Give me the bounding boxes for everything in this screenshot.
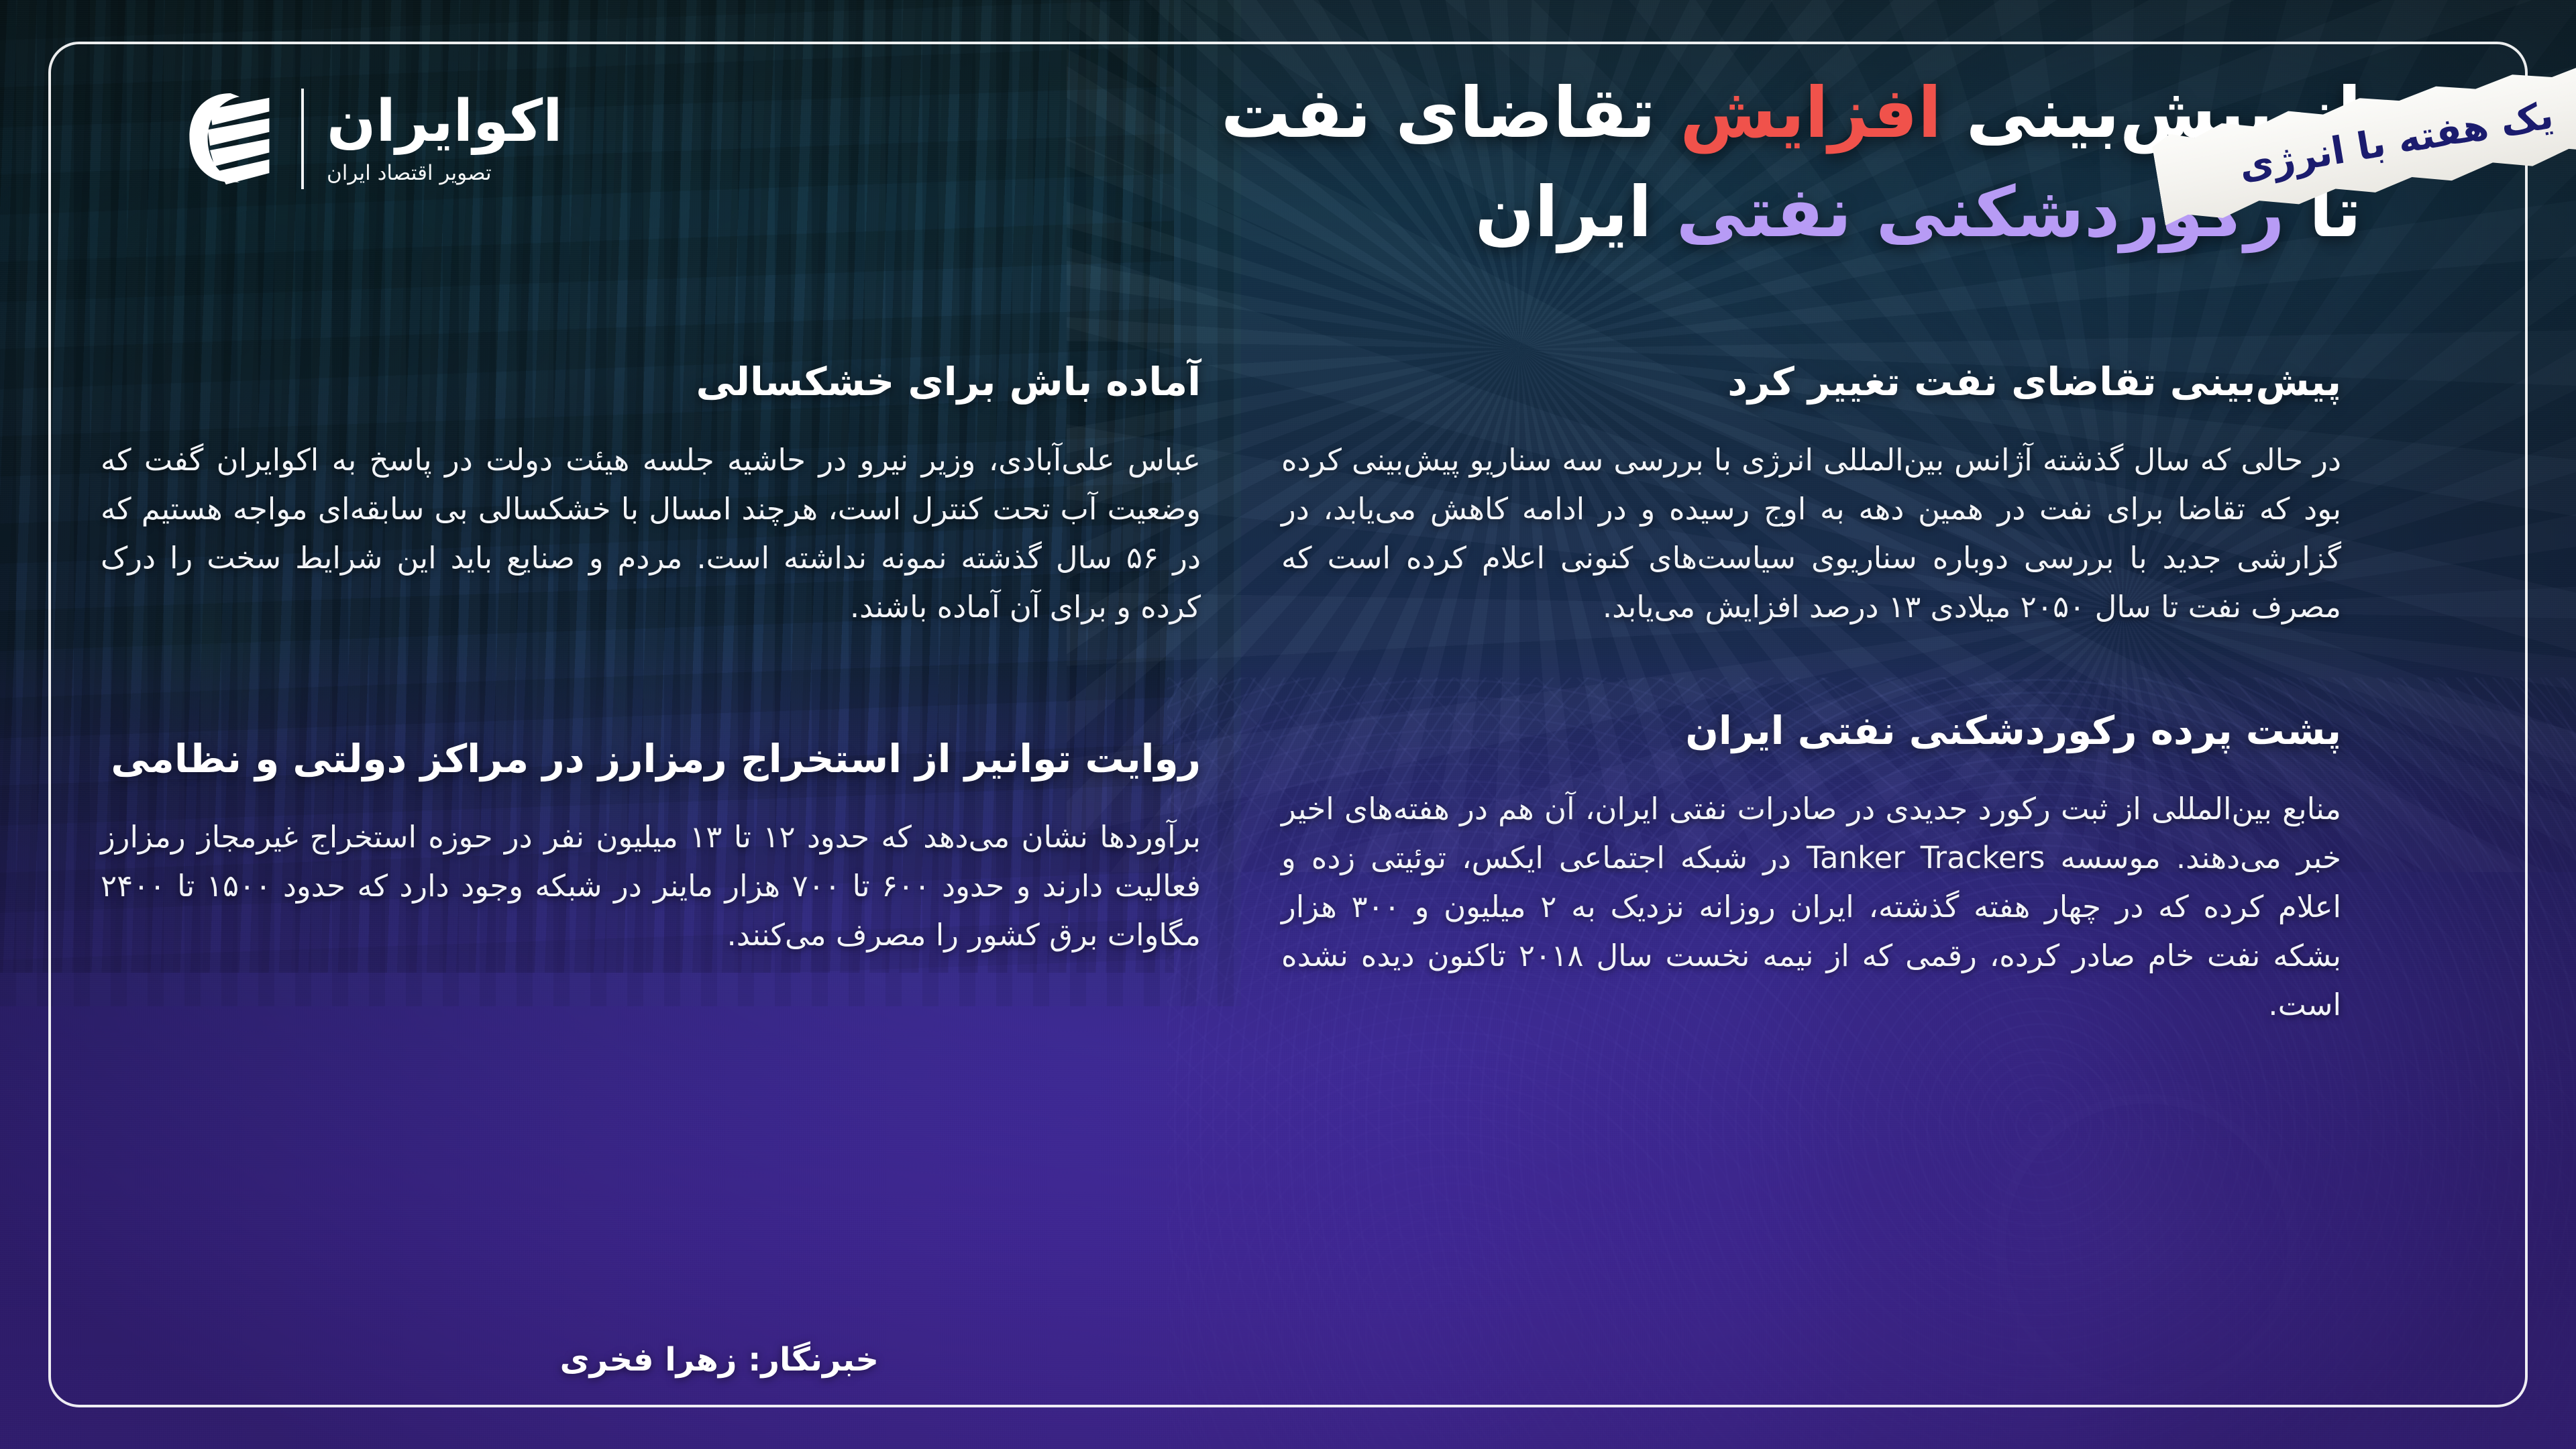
eco-iran-wing-logo-icon — [164, 82, 278, 196]
poster-header: اکوایران تصویر اقتصاد ایران از پی — [0, 0, 2576, 322]
logo-divider — [301, 89, 304, 189]
article-body: در حالی که سال گذشته آژانس بین‌المللی ان… — [1281, 436, 2341, 632]
article-title: پیش‌بینی تقاضای نفت تغییر کرد — [1281, 356, 2341, 408]
poster-footer: خبرنگار: زهرا فخری — [74, 1323, 879, 1397]
brand-logo[interactable]: اکوایران تصویر اقتصاد ایران — [164, 82, 563, 196]
headline-line-2: تا رکوردشکنی نفتی ایران — [671, 163, 2361, 262]
column-right: آماده باش برای خشکسالی عباس علی‌آبادی، و… — [101, 356, 1201, 1348]
brand-name: اکوایران — [327, 93, 563, 152]
headline-line-1-post: تقاضای نفت — [1221, 72, 1680, 154]
poster-canvas: اکوایران تصویر اقتصاد ایران از پی — [0, 0, 2576, 1449]
column-left: پیش‌بینی تقاضای نفت تغییر کرد در حالی که… — [1281, 356, 2341, 1348]
headline-line-1: از پیش‌بینی افزایش تقاضای نفت — [671, 64, 2361, 163]
series-badge-label: یک هفته با انرژی — [2149, 52, 2576, 231]
article-body: عباس علی‌آبادی، وزیر نیرو در حاشیه جلسه … — [101, 436, 1201, 632]
article-body: برآوردها نشان می‌دهد که حدود ۱۲ تا ۱۳ می… — [101, 813, 1201, 960]
series-badge: یک هفته با انرژی — [2140, 0, 2576, 325]
brand-tagline: تصویر اقتصاد ایران — [327, 161, 492, 185]
article-oil-demand-forecast[interactable]: پیش‌بینی تقاضای نفت تغییر کرد در حالی که… — [1281, 356, 2341, 632]
reporter-byline: خبرنگار: زهرا فخری — [543, 1341, 879, 1379]
article-columns: آماده باش برای خشکسالی عباس علی‌آبادی، و… — [101, 356, 2475, 1348]
article-title: روایت توانیر از استخراج رمزارز در مراکز … — [101, 733, 1201, 785]
article-crypto-mining[interactable]: روایت توانیر از استخراج رمزارز در مراکز … — [101, 733, 1201, 960]
headline: از پیش‌بینی افزایش تقاضای نفت تا رکوردشک… — [671, 64, 2361, 262]
headline-line-1-accent: افزایش — [1680, 72, 1941, 154]
article-body: منابع بین‌المللی از ثبت رکورد جدیدی در ص… — [1281, 785, 2341, 1029]
article-oil-export-record[interactable]: پشت پرده رکوردشکنی نفتی ایران منابع بین‌… — [1281, 704, 2341, 1030]
headline-line-2-post: ایران — [1475, 171, 1676, 253]
article-title: پشت پرده رکوردشکنی نفتی ایران — [1281, 704, 2341, 757]
article-title: آماده باش برای خشکسالی — [101, 356, 1201, 408]
brand-logo-text: اکوایران تصویر اقتصاد ایران — [327, 93, 563, 185]
article-drought[interactable]: آماده باش برای خشکسالی عباس علی‌آبادی، و… — [101, 356, 1201, 632]
